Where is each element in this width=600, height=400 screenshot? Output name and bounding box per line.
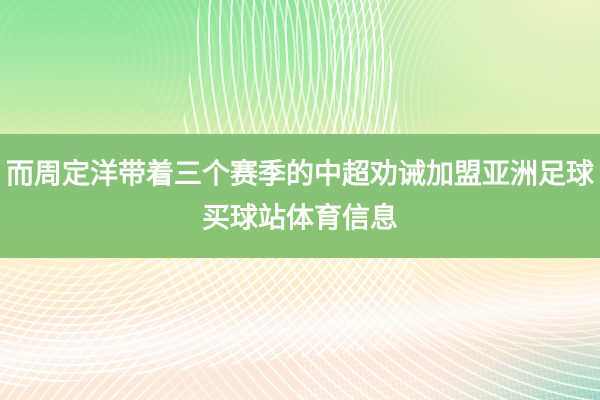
headline-band: 而周定洋带着三个赛季的中超劝诫加盟亚洲足球买球站体育信息 [0,134,600,258]
headline-text: 而周定洋带着三个赛季的中超劝诫加盟亚洲足球买球站体育信息 [4,152,596,240]
banner-image: 而周定洋带着三个赛季的中超劝诫加盟亚洲足球买球站体育信息 [0,0,600,400]
